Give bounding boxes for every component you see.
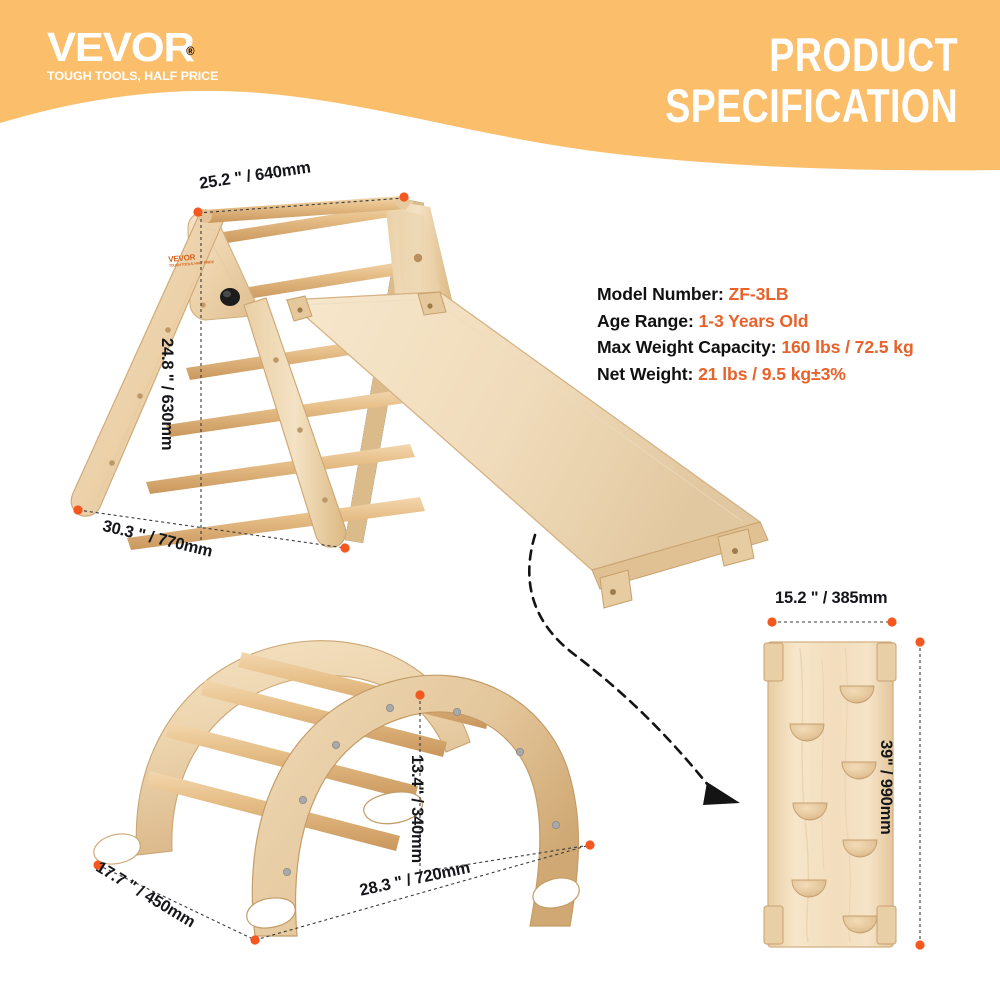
product-illustrations: [0, 0, 1000, 1000]
spec-row-model: Model Number: ZF-3LB: [597, 281, 987, 308]
dimension-label-board-height: 39" / 990mm: [876, 740, 895, 835]
spec-value-max-weight: 160 lbs / 72.5 kg: [781, 337, 913, 357]
spec-row-max-weight: Max Weight Capacity: 160 lbs / 72.5 kg: [597, 334, 987, 361]
dimension-label-triangle-height: 24.8 " / 630mm: [157, 338, 176, 450]
spec-label-age-range: Age Range:: [597, 311, 694, 331]
ramp-board-illustration: [764, 617, 925, 949]
spec-label-max-weight: Max Weight Capacity:: [597, 337, 777, 357]
spec-value-net-weight: 21 lbs / 9.5 kg±3%: [698, 364, 846, 384]
spec-label-net-weight: Net Weight:: [597, 364, 693, 384]
specification-list: Model Number: ZF-3LB Age Range: 1-3 Year…: [597, 281, 987, 388]
spec-row-net-weight: Net Weight: 21 lbs / 9.5 kg±3%: [597, 361, 987, 388]
spec-label-model: Model Number:: [597, 284, 724, 304]
spec-row-age-range: Age Range: 1-3 Years Old: [597, 308, 987, 335]
spec-value-age-range: 1-3 Years Old: [699, 311, 809, 331]
product-specification-page: VEVOR® TOUGH TOOLS, HALF PRICE PRODUCT S…: [0, 0, 1000, 1000]
dimension-label-arch-height: 13.4" / 340mm: [407, 755, 426, 863]
spec-value-model: ZF-3LB: [729, 284, 789, 304]
dimension-label-board-width: 15.2 " / 385mm: [775, 589, 887, 608]
